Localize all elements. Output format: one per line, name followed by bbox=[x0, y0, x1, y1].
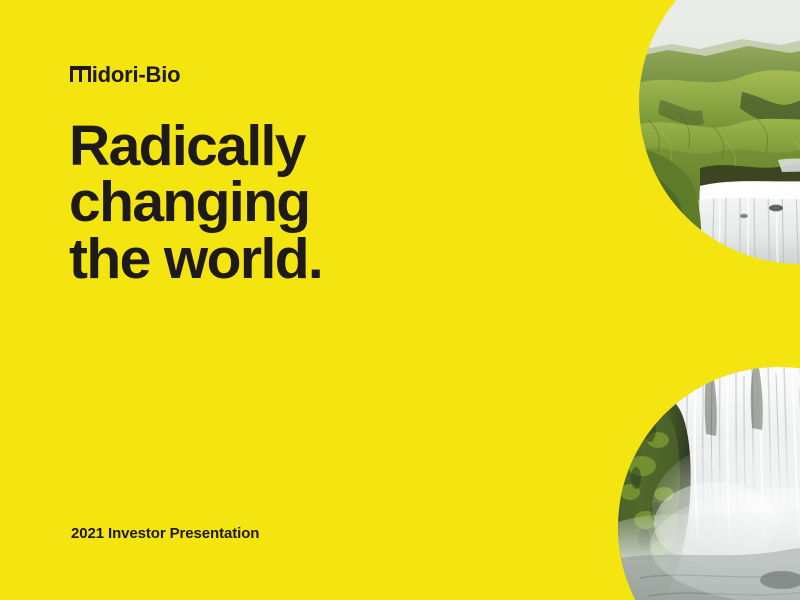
logo-wordmark-text: idori-Bio bbox=[92, 62, 181, 87]
headline-line-1: Radically bbox=[69, 118, 489, 174]
headline-line-2: changing bbox=[69, 174, 489, 230]
logo-m-mark bbox=[70, 66, 92, 82]
slide-content: idori-Bio Radically changing the world. … bbox=[0, 0, 800, 600]
presentation-slide: idori-Bio Radically changing the world. … bbox=[0, 0, 800, 600]
brand-logo[interactable]: idori-Bio bbox=[70, 62, 180, 88]
page-title: Radically changing the world. bbox=[69, 118, 489, 287]
headline-line-3: the world. bbox=[69, 231, 489, 287]
presentation-subtitle: 2021 Investor Presentation bbox=[71, 525, 259, 542]
